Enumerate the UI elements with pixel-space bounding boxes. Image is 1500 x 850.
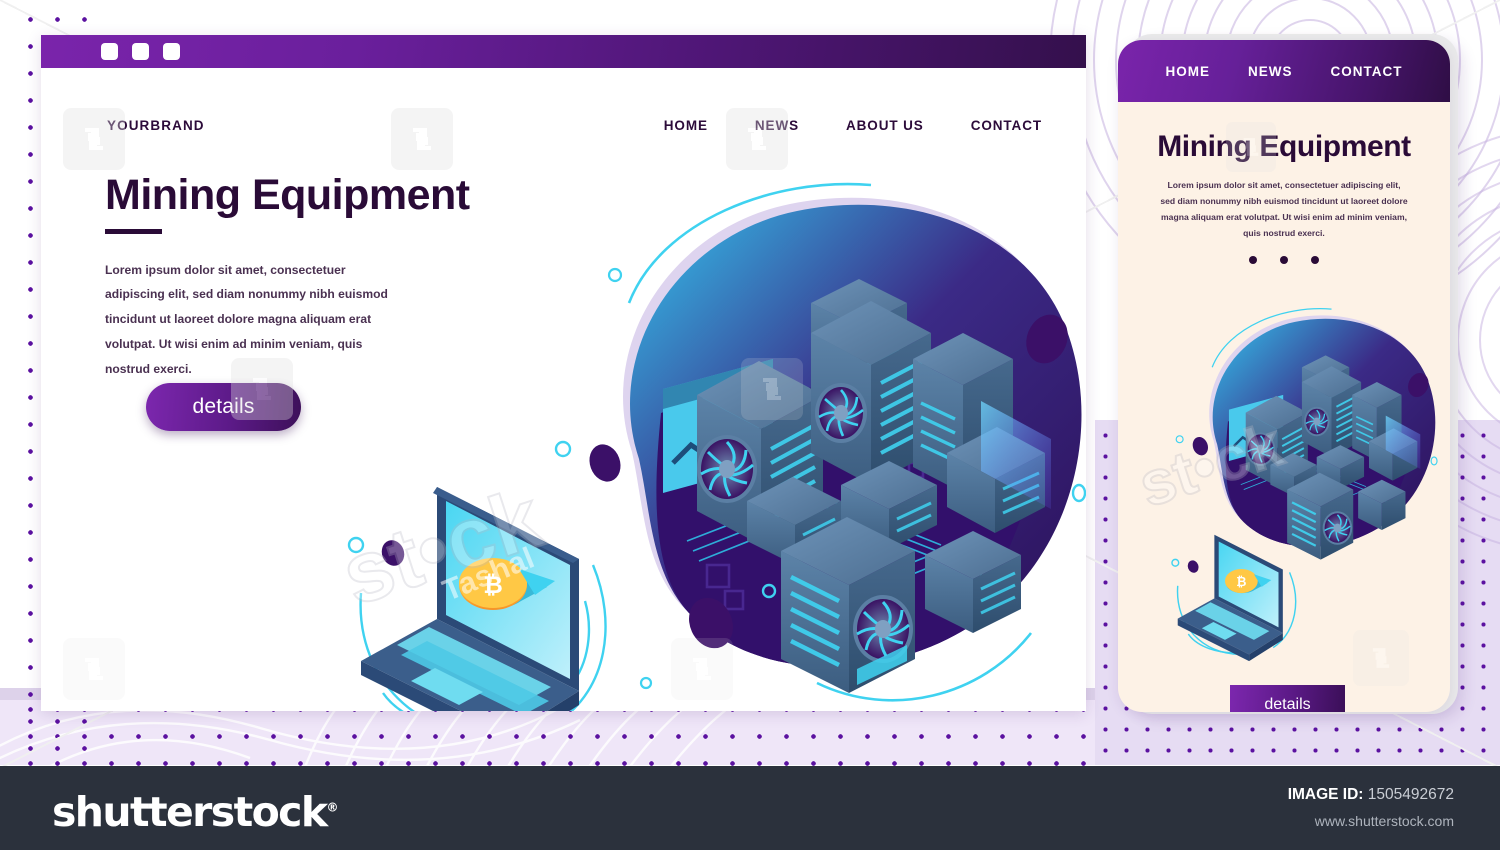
watermark-badge-icon [391, 108, 453, 170]
svg-text:₿: ₿ [1236, 574, 1246, 589]
desktop-primary-nav: HOME NEWS ABOUT US CONTACT [664, 118, 1042, 133]
mobile-viewport: Mining Equipment Lorem ipsum dolor sit a… [1118, 130, 1450, 712]
svg-text:₿: ₿ [483, 571, 503, 599]
hero-body-text: Lorem ipsum dolor sit amet, consectetuer… [105, 258, 405, 382]
title-underline-rule [105, 229, 162, 234]
window-close-icon[interactable] [163, 43, 180, 60]
details-button[interactable]: details [146, 383, 301, 431]
mobile-body-text: Lorem ipsum dolor sit amet, consectetuer… [1160, 178, 1408, 242]
shutterstock-wordmark: shutterstock [52, 788, 327, 836]
hero-text-block: Mining Equipment Lorem ipsum dolor sit a… [105, 173, 535, 381]
nav-item-news[interactable]: NEWS [755, 118, 799, 133]
page-title: Mining Equipment [105, 173, 535, 219]
watermark-badge-icon [63, 638, 125, 700]
shutterstock-url: www.shutterstock.com [1315, 813, 1454, 829]
image-id-label: IMAGE ID: [1288, 786, 1364, 803]
desktop-browser-mockup: YOURBRAND HOME NEWS ABOUT US CONTACT Min… [41, 35, 1086, 711]
image-id-value: 1505492672 [1368, 786, 1454, 803]
browser-titlebar [41, 35, 1086, 68]
shutterstock-footer-bar: shutterstock® IMAGE ID: 1505492672 www.s… [0, 766, 1500, 850]
shutterstock-logo: shutterstock® [52, 788, 339, 836]
site-logo-text[interactable]: YOURBRAND [107, 118, 205, 133]
registered-trademark-symbol: ® [327, 800, 339, 814]
mobile-nav-item-home[interactable]: HOME [1166, 64, 1211, 79]
watermark-badge-icon [1353, 630, 1409, 686]
mobile-details-button[interactable]: details [1230, 685, 1345, 712]
watermark-artist-top: Tashal [418, 391, 520, 458]
carousel-dot-2[interactable] [1280, 256, 1288, 264]
mobile-page-title: Mining Equipment [1118, 130, 1450, 164]
laptop-illustration: ₿ [341, 473, 631, 711]
window-maximize-icon[interactable] [132, 43, 149, 60]
carousel-dot-1[interactable] [1249, 256, 1257, 264]
poster-canvas: YOURBRAND HOME NEWS ABOUT US CONTACT Min… [0, 0, 1500, 850]
mobile-nav-item-contact[interactable]: CONTACT [1331, 64, 1403, 79]
window-minimize-icon[interactable] [101, 43, 118, 60]
mobile-nav-item-news[interactable]: NEWS [1248, 64, 1293, 79]
mobile-primary-nav: HOME NEWS CONTACT [1118, 40, 1450, 102]
carousel-indicator [1118, 256, 1450, 264]
browser-viewport: YOURBRAND HOME NEWS ABOUT US CONTACT Min… [41, 68, 1086, 711]
nav-item-about-us[interactable]: ABOUT US [846, 118, 924, 133]
nav-item-home[interactable]: HOME [664, 118, 708, 133]
mobile-mockup: HOME NEWS CONTACT Mining Equipment Lorem… [1118, 40, 1450, 712]
carousel-dot-3[interactable] [1311, 256, 1319, 264]
image-id-line: IMAGE ID: 1505492672 [1288, 786, 1454, 804]
mobile-laptop-illustration: ₿ [1168, 528, 1308, 663]
nav-item-contact[interactable]: CONTACT [971, 118, 1042, 133]
